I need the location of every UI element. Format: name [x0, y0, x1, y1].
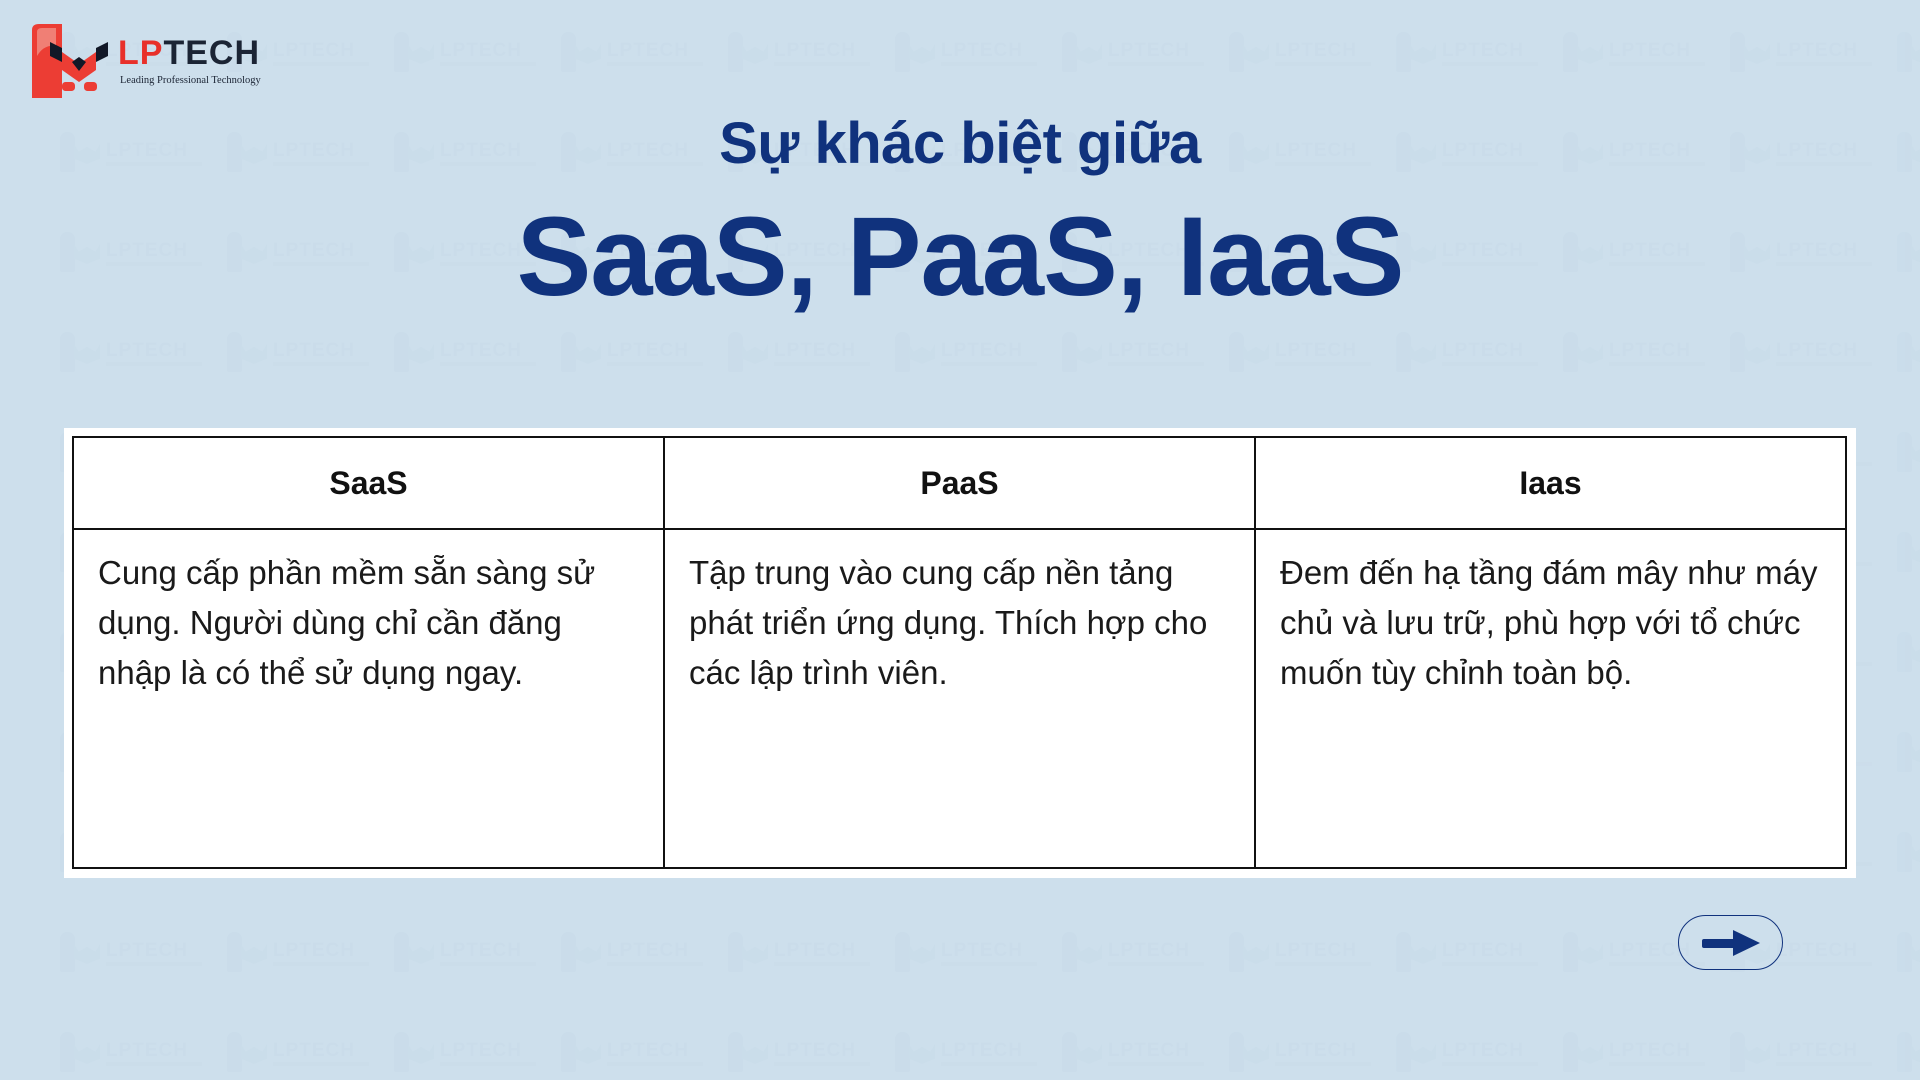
watermark-bar [895, 332, 910, 372]
watermark-text: LPTECH [1609, 1040, 1691, 1062]
watermark-underline [1776, 962, 1872, 966]
watermark-bar [227, 332, 242, 372]
watermark-fox-icon [1911, 844, 1920, 864]
watermark-fox-icon [909, 44, 935, 64]
watermark: LPTECH [728, 30, 878, 76]
watermark-text: LPTECH [273, 940, 355, 962]
watermark-fox-icon [575, 344, 601, 364]
watermark: LPTECH [1730, 1030, 1880, 1076]
watermark-fox-icon [742, 1044, 768, 1064]
watermark-text: LPTECH [1275, 1040, 1357, 1062]
watermark: LPTECH [60, 1030, 210, 1076]
watermark-text: LPTECH [607, 940, 689, 962]
watermark: LPTECH [1229, 330, 1379, 376]
watermark-bar [1396, 1032, 1411, 1072]
watermark-underline [1275, 962, 1371, 966]
watermark-bar [1563, 1032, 1578, 1072]
watermark: LPTECH [728, 1030, 878, 1076]
watermark-text: LPTECH [1442, 1040, 1524, 1062]
watermark-bar [1229, 32, 1244, 72]
watermark-bar [728, 332, 743, 372]
watermark-bar [1897, 732, 1912, 772]
watermark-text: LPTECH [440, 40, 522, 62]
watermark: LPTECH [1396, 930, 1546, 976]
slide-subtitle: Sự khác biệt giữa [0, 110, 1920, 177]
watermark: LPTECH [1062, 1030, 1212, 1076]
watermark-fox-icon [1911, 944, 1920, 964]
watermark-fox-icon [1243, 344, 1269, 364]
watermark-text: LPTECH [774, 1040, 856, 1062]
watermark: LPTECH [1396, 330, 1546, 376]
watermark-fox-icon [575, 1044, 601, 1064]
watermark-underline [1108, 362, 1204, 366]
watermark-fox-icon [1076, 1044, 1102, 1064]
watermark-bar [1563, 32, 1578, 72]
watermark-fox-icon [1577, 944, 1603, 964]
watermark-bar [728, 932, 743, 972]
watermark-underline [1609, 62, 1705, 66]
watermark-text: LPTECH [1275, 40, 1357, 62]
watermark-fox-icon [909, 1044, 935, 1064]
watermark-fox-icon [1911, 1044, 1920, 1064]
watermark: LPTECH [895, 1030, 1045, 1076]
watermark: LPTECH [1897, 730, 1920, 776]
watermark-underline [1776, 1062, 1872, 1066]
watermark-bar [1897, 532, 1912, 572]
watermark: LPTECH [1563, 1030, 1713, 1076]
watermark: LPTECH [1897, 30, 1920, 76]
watermark-fox-icon [74, 1044, 100, 1064]
watermark-text: LPTECH [1108, 40, 1190, 62]
watermark: LPTECH [895, 930, 1045, 976]
watermark: LPTECH [728, 930, 878, 976]
watermark-underline [273, 962, 369, 966]
watermark-fox-icon [575, 44, 601, 64]
watermark-underline [1442, 362, 1538, 366]
watermark-text: LPTECH [106, 940, 188, 962]
watermark-text: LPTECH [607, 1040, 689, 1062]
watermark-fox-icon [1744, 344, 1770, 364]
table-cell-saas-desc: Cung cấp phần mềm sẵn sàng sử dụng. Ngườ… [73, 529, 664, 868]
watermark-text: LPTECH [273, 40, 355, 62]
watermark-bar [1229, 932, 1244, 972]
watermark-underline [106, 962, 202, 966]
watermark: LPTECH [561, 330, 711, 376]
watermark-underline [1108, 1062, 1204, 1066]
watermark-bar [895, 32, 910, 72]
logo-wordmark: LPTECH [118, 36, 260, 70]
watermark-bar [561, 32, 576, 72]
watermark-text: LPTECH [941, 1040, 1023, 1062]
watermark: LPTECH [1396, 30, 1546, 76]
watermark-fox-icon [1243, 44, 1269, 64]
watermark-underline [941, 962, 1037, 966]
lptech-logo: LPTECH Leading Professional Technology [22, 22, 252, 100]
watermark-fox-icon [1076, 944, 1102, 964]
watermark-bar [1897, 832, 1912, 872]
watermark-underline [607, 1062, 703, 1066]
watermark-text: LPTECH [1108, 940, 1190, 962]
watermark: LPTECH [394, 930, 544, 976]
watermark-text: LPTECH [1108, 1040, 1190, 1062]
watermark-bar [394, 1032, 409, 1072]
watermark-fox-icon [408, 944, 434, 964]
watermark-bar [1062, 1032, 1077, 1072]
watermark-underline [1275, 362, 1371, 366]
watermark-text: LPTECH [941, 340, 1023, 362]
watermark-bar [561, 1032, 576, 1072]
logo-wordmark-lp: LP [118, 34, 163, 72]
watermark-text: LPTECH [941, 40, 1023, 62]
watermark-bar [1730, 332, 1745, 372]
watermark-fox-icon [1076, 344, 1102, 364]
watermark-underline [774, 962, 870, 966]
watermark-text: LPTECH [1442, 340, 1524, 362]
watermark-underline [440, 1062, 536, 1066]
comparison-table: SaaS PaaS Iaas Cung cấp phần mềm sẵn sàn… [72, 436, 1847, 869]
watermark-text: LPTECH [774, 340, 856, 362]
watermark: LPTECH [1897, 430, 1920, 476]
watermark-underline [1609, 362, 1705, 366]
watermark-bar [60, 1032, 75, 1072]
watermark-text: LPTECH [1442, 940, 1524, 962]
watermark-fox-icon [241, 944, 267, 964]
watermark: LPTECH [1563, 330, 1713, 376]
table-header-paas: PaaS [664, 437, 1255, 529]
watermark-fox-icon [1577, 1044, 1603, 1064]
watermark-underline [941, 1062, 1037, 1066]
watermark: LPTECH [895, 30, 1045, 76]
watermark-text: LPTECH [607, 40, 689, 62]
watermark-bar [895, 932, 910, 972]
watermark: LPTECH [227, 930, 377, 976]
watermark-fox-icon [909, 344, 935, 364]
watermark-fox-icon [1410, 1044, 1436, 1064]
watermark-bar [1897, 332, 1912, 372]
table-row: Cung cấp phần mềm sẵn sàng sử dụng. Ngườ… [73, 529, 1846, 868]
watermark: LPTECH [895, 330, 1045, 376]
watermark-fox-icon [1911, 744, 1920, 764]
watermark: LPTECH [561, 930, 711, 976]
watermark-fox-icon [1911, 644, 1920, 664]
watermark-bar [227, 1032, 242, 1072]
watermark-text: LPTECH [273, 1040, 355, 1062]
watermark-underline [941, 362, 1037, 366]
watermark-bar [394, 332, 409, 372]
watermark-fox-icon [408, 44, 434, 64]
watermark-text: LPTECH [1609, 40, 1691, 62]
watermark-text: LPTECH [440, 940, 522, 962]
watermark-text: LPTECH [941, 940, 1023, 962]
watermark-underline [607, 362, 703, 366]
watermark-underline [273, 62, 369, 66]
watermark-underline [607, 962, 703, 966]
watermark-fox-icon [1410, 344, 1436, 364]
watermark-fox-icon [1076, 44, 1102, 64]
watermark-underline [440, 362, 536, 366]
watermark-fox-icon [74, 344, 100, 364]
table-header-saas: SaaS [73, 437, 664, 529]
watermark-underline [774, 362, 870, 366]
watermark-text: LPTECH [774, 40, 856, 62]
watermark: LPTECH [1563, 30, 1713, 76]
watermark-bar [60, 332, 75, 372]
watermark-fox-icon [742, 944, 768, 964]
arrow-right-icon [1700, 928, 1762, 958]
watermark-text: LPTECH [1776, 1040, 1858, 1062]
watermark-underline [941, 62, 1037, 66]
watermark-bar [1897, 1032, 1912, 1072]
table-header-iaas: Iaas [1255, 437, 1846, 529]
logo-tagline: Leading Professional Technology [120, 75, 261, 86]
watermark-underline [1776, 362, 1872, 366]
watermark-fox-icon [1744, 44, 1770, 64]
watermark: LPTECH [394, 1030, 544, 1076]
watermark: LPTECH [60, 330, 210, 376]
watermark: LPTECH [227, 330, 377, 376]
watermark-bar [1062, 932, 1077, 972]
slide-canvas: LPTECHLPTECHLPTECHLPTECHLPTECHLPTECHLPTE… [0, 0, 1920, 1080]
watermark: LPTECH [1229, 1030, 1379, 1076]
watermark-bar [1396, 932, 1411, 972]
watermark-underline [1108, 962, 1204, 966]
watermark-bar [1897, 432, 1912, 472]
watermark: LPTECH [561, 30, 711, 76]
comparison-table-container: SaaS PaaS Iaas Cung cấp phần mềm sẵn sàn… [64, 428, 1856, 878]
watermark: LPTECH [1897, 330, 1920, 376]
watermark-underline [106, 362, 202, 366]
watermark-text: LPTECH [1776, 340, 1858, 362]
watermark-underline [273, 1062, 369, 1066]
watermark: LPTECH [561, 1030, 711, 1076]
watermark-fox-icon [1410, 944, 1436, 964]
watermark-bar [1897, 32, 1912, 72]
next-button[interactable] [1678, 915, 1783, 970]
watermark-fox-icon [1577, 344, 1603, 364]
watermark-fox-icon [1577, 44, 1603, 64]
watermark-fox-icon [1410, 44, 1436, 64]
watermark: LPTECH [1897, 830, 1920, 876]
watermark-underline [1275, 62, 1371, 66]
watermark-fox-icon [408, 344, 434, 364]
watermark-text: LPTECH [440, 1040, 522, 1062]
table-cell-iaas-desc: Đem đến hạ tầng đám mây như máy chủ và l… [1255, 529, 1846, 868]
watermark: LPTECH [1062, 930, 1212, 976]
watermark-bar [1229, 1032, 1244, 1072]
watermark: LPTECH [1229, 930, 1379, 976]
watermark-fox-icon [74, 944, 100, 964]
watermark-fox-icon [1911, 544, 1920, 564]
watermark-underline [106, 1062, 202, 1066]
watermark-fox-icon [1911, 44, 1920, 64]
table-cell-paas-desc: Tập trung vào cung cấp nền tảng phát tri… [664, 529, 1255, 868]
watermark-bar [1730, 32, 1745, 72]
page-title: SaaS, PaaS, IaaS [0, 192, 1920, 321]
watermark: LPTECH [728, 330, 878, 376]
watermark-underline [1442, 962, 1538, 966]
watermark-bar [728, 32, 743, 72]
watermark-fox-icon [1243, 944, 1269, 964]
watermark-bar [1396, 32, 1411, 72]
watermark-underline [440, 62, 536, 66]
watermark: LPTECH [1730, 330, 1880, 376]
watermark-bar [1396, 332, 1411, 372]
watermark: LPTECH [1730, 30, 1880, 76]
watermark: LPTECH [1897, 1030, 1920, 1076]
watermark: LPTECH [1897, 930, 1920, 976]
watermark-fox-icon [742, 344, 768, 364]
watermark-text: LPTECH [106, 340, 188, 362]
watermark-fox-icon [241, 344, 267, 364]
watermark-bar [728, 1032, 743, 1072]
watermark-bar [895, 1032, 910, 1072]
watermark-fox-icon [742, 44, 768, 64]
watermark-underline [607, 62, 703, 66]
logo-tagline-text: Leading Professional Technology [120, 75, 261, 86]
watermark-fox-icon [1911, 444, 1920, 464]
watermark-text: LPTECH [1275, 340, 1357, 362]
table-header-row: SaaS PaaS Iaas [73, 437, 1846, 529]
watermark-text: LPTECH [273, 340, 355, 362]
watermark-underline [1442, 1062, 1538, 1066]
watermark: LPTECH [394, 30, 544, 76]
watermark-bar [561, 332, 576, 372]
watermark-bar [1563, 332, 1578, 372]
watermark-underline [774, 62, 870, 66]
watermark-underline [440, 962, 536, 966]
watermark-bar [60, 932, 75, 972]
watermark: LPTECH [1229, 30, 1379, 76]
watermark-fox-icon [1744, 1044, 1770, 1064]
watermark-underline [1776, 62, 1872, 66]
watermark-underline [1108, 62, 1204, 66]
watermark-underline [273, 362, 369, 366]
watermark-underline [1609, 1062, 1705, 1066]
watermark-text: LPTECH [1609, 340, 1691, 362]
watermark-text: LPTECH [1776, 940, 1858, 962]
watermark-bar [1897, 932, 1912, 972]
watermark-bar [1730, 1032, 1745, 1072]
watermark-bar [394, 32, 409, 72]
watermark-underline [774, 1062, 870, 1066]
watermark-fox-icon [1911, 344, 1920, 364]
watermark-text: LPTECH [1275, 940, 1357, 962]
watermark-fox-icon [575, 944, 601, 964]
watermark: LPTECH [60, 930, 210, 976]
watermark-bar [227, 932, 242, 972]
watermark-bar [1897, 632, 1912, 672]
watermark-text: LPTECH [1442, 40, 1524, 62]
watermark-text: LPTECH [607, 340, 689, 362]
watermark-fox-icon [909, 944, 935, 964]
watermark-bar [561, 932, 576, 972]
watermark-underline [1275, 1062, 1371, 1066]
watermark-fox-icon [1243, 1044, 1269, 1064]
logo-wordmark-tech: TECH [163, 34, 260, 72]
watermark-bar [1062, 32, 1077, 72]
watermark-text: LPTECH [1776, 40, 1858, 62]
watermark: LPTECH [1062, 30, 1212, 76]
watermark-text: LPTECH [440, 340, 522, 362]
lptech-logo-mark [22, 22, 130, 100]
watermark-fox-icon [241, 1044, 267, 1064]
watermark: LPTECH [394, 330, 544, 376]
watermark-text: LPTECH [106, 1040, 188, 1062]
watermark: LPTECH [227, 1030, 377, 1076]
watermark: LPTECH [1897, 630, 1920, 676]
watermark-bar [394, 932, 409, 972]
table-head: SaaS PaaS Iaas [73, 437, 1846, 529]
watermark-text: LPTECH [774, 940, 856, 962]
watermark-text: LPTECH [1108, 340, 1190, 362]
watermark-bar [1062, 332, 1077, 372]
watermark-fox-icon [408, 1044, 434, 1064]
watermark-underline [1442, 62, 1538, 66]
watermark-bar [1229, 332, 1244, 372]
watermark: LPTECH [1062, 330, 1212, 376]
watermark: LPTECH [1897, 530, 1920, 576]
watermark: LPTECH [1396, 1030, 1546, 1076]
watermark-bar [1563, 932, 1578, 972]
table-body: Cung cấp phần mềm sẵn sàng sử dụng. Ngườ… [73, 529, 1846, 868]
